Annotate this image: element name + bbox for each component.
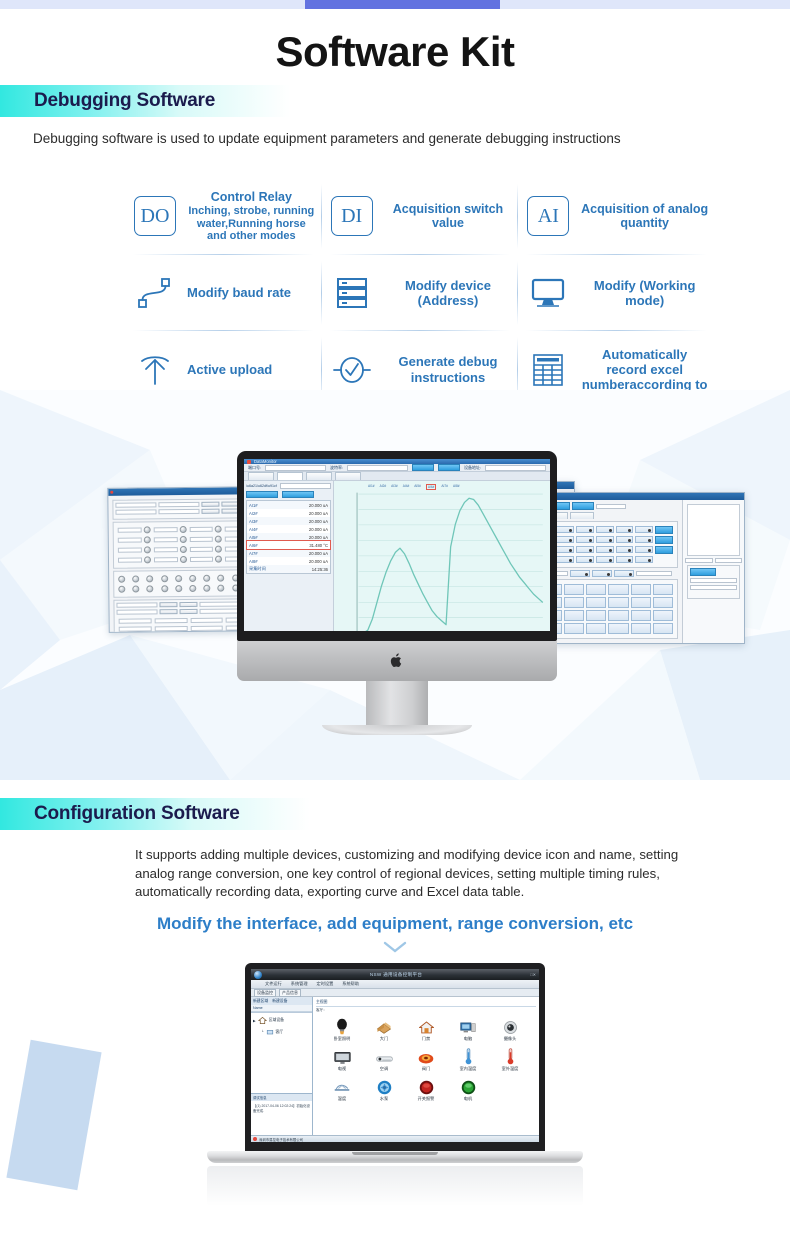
imac-chin: [237, 641, 557, 681]
device-label: 阀门: [422, 1066, 430, 1072]
menu-item-file[interactable]: 文件运行: [265, 981, 282, 987]
log-header: 调试信息: [251, 1094, 312, 1101]
laptop-trackpad-notch: [352, 1152, 438, 1155]
device-tree-sidebar[interactable]: 新建区域 新建设备 Name ▶ 区域设备: [251, 997, 313, 1135]
feature-acquisition-analog[interactable]: AI Acquisition of analog quantity: [518, 178, 715, 255]
tab-timer-output[interactable]: [248, 472, 274, 480]
table-row: AI4#20.000 uA: [247, 525, 330, 533]
laptop-base: [207, 1151, 583, 1163]
house-node-icon: [258, 1016, 267, 1025]
device-item-access[interactable]: 门禁: [406, 1018, 446, 1042]
start-acquisition-button[interactable]: [246, 491, 278, 498]
laptop-bezel: NSW 通用设备控制平台 □✕ 文件运行 系统管理 定时设置 系统帮助 设备监控…: [245, 963, 545, 1151]
baud-rate-curve-icon: [131, 276, 179, 310]
app-tabs[interactable]: [244, 472, 550, 481]
alarm-red-icon: [419, 1078, 434, 1095]
refresh-data-button[interactable]: [282, 491, 314, 498]
page-title: Software Kit: [0, 28, 790, 76]
device-label: 大门: [380, 1036, 388, 1042]
check-circle-icon: [328, 353, 376, 387]
house-icon: [419, 1018, 434, 1035]
log-line: 【(1) 2017-04-06 12:02:24】初始化设备完成.: [253, 1103, 310, 1113]
window-controls[interactable]: □✕: [530, 972, 536, 977]
tab-product-info[interactable]: 产品信息: [279, 989, 301, 997]
feature-title: Modify (Working mode): [580, 278, 709, 309]
imac-screen: DataMonitor 端口号: 波特率: 设备地址:: [244, 459, 550, 631]
canvas-header: 主视图: [316, 1000, 536, 1007]
feature-title: Acquisition of analog quantity: [580, 202, 709, 232]
section-header-configuration-label: Configuration Software: [0, 803, 240, 825]
feature-title: Acquisition switch value: [384, 202, 513, 232]
tv-icon: [334, 1048, 351, 1065]
tree-column-header: Name: [251, 1005, 312, 1012]
legend-item: AI4#: [403, 484, 410, 490]
top-scrollbar-thumb[interactable]: [305, 0, 500, 9]
device-item-outdoor-temp[interactable]: 室外温度: [490, 1048, 530, 1072]
laptop-reflection: [207, 1166, 583, 1206]
feature-title: Modify device (Address): [384, 278, 513, 309]
feature-detail: Inching, strobe, running water,Running h…: [187, 205, 316, 242]
chevron-down-icon: [0, 936, 790, 958]
device-label: 室外温度: [502, 1066, 519, 1072]
feature-title: Automatically record excel numberaccordi…: [580, 347, 709, 393]
device-item-computer[interactable]: 电脑: [448, 1018, 488, 1042]
device-label: 电视: [338, 1066, 346, 1072]
open-port-button[interactable]: [412, 464, 434, 471]
configuration-highlight: Modify the interface, add equipment, ran…: [0, 914, 790, 934]
valve-icon: [418, 1048, 434, 1065]
app-tabs[interactable]: 设备监控 产品信息: [251, 989, 539, 997]
legend-item: AI1#: [368, 484, 375, 490]
do-label-icon: DO: [131, 196, 179, 236]
new-device-button[interactable]: 新建设备: [272, 999, 287, 1004]
debug-log-panel: 调试信息 【(1) 2017-04-06 12:02:24】初始化设备完成.: [251, 1093, 312, 1135]
section-header-debugging: Debugging Software: [0, 85, 290, 117]
pump-icon: [377, 1078, 392, 1095]
tab-switch-output[interactable]: [306, 472, 332, 480]
menu-item-help[interactable]: 系统帮助: [342, 981, 359, 987]
camera-icon: [503, 1018, 518, 1035]
datamonitor-app[interactable]: DataMonitor 端口号: 波特率: 设备地址:: [244, 459, 550, 631]
device-item-pump[interactable]: 水泵: [364, 1078, 404, 1102]
device-label: 水泵: [380, 1096, 388, 1102]
app-logo-icon: [254, 971, 262, 979]
feature-title: Active upload: [187, 362, 272, 377]
computer-icon: [460, 1018, 476, 1035]
app-window-title: NSW 通用设备控制平台: [262, 972, 530, 978]
bulb-icon: [335, 1018, 349, 1035]
status-icon: [253, 1137, 257, 1141]
tree-nodes[interactable]: ▶ 区域设备 └ 客厅: [251, 1012, 312, 1093]
status-company: 深圳市易控电子技术有限公司: [259, 1137, 303, 1142]
port-label: 端口号:: [248, 465, 261, 471]
menu-item-timer[interactable]: 定时设置: [317, 981, 334, 987]
imac-mockup: DataMonitor 端口号: 波特率: 设备地址:: [237, 451, 557, 735]
table-row-highlighted: AI6#31.480 °C: [247, 541, 330, 549]
port-select[interactable]: [265, 465, 326, 471]
tree-node-label[interactable]: 区域设备: [269, 1018, 284, 1023]
gate-icon: [376, 1018, 392, 1035]
app-icon: [247, 460, 251, 464]
app-icon: [110, 491, 113, 494]
tree-node-label[interactable]: 客厅: [276, 1030, 284, 1035]
configuration-description: It supports adding multiple devices, cus…: [135, 846, 715, 902]
command-panel: [687, 565, 740, 599]
feature-modify-baud-rate[interactable]: Modify baud rate: [125, 255, 322, 332]
legend-item: AI5#: [414, 484, 421, 490]
imac-stand-neck: [366, 681, 428, 725]
table-row: AI1#20.000 uA: [247, 501, 330, 509]
thermometer-blue-icon: [464, 1048, 473, 1065]
section-header-configuration: Configuration Software: [0, 798, 310, 830]
monitor-icon: [524, 277, 572, 309]
device-item-motor[interactable]: 电机: [448, 1078, 488, 1102]
chart-legend: AI1# AI2# AI3# AI4# AI5# AI6# AI7# AI8#: [368, 484, 488, 490]
table-row: AI2#20.000 uA: [247, 509, 330, 517]
device-label: 室内温度: [460, 1066, 477, 1072]
device-label: 空调: [380, 1066, 388, 1072]
ai-label-icon: AI: [524, 196, 572, 236]
close-port-button[interactable]: [438, 464, 460, 471]
top-scrollbar-track[interactable]: [0, 0, 790, 9]
imac-bezel: DataMonitor 端口号: 波特率: 设备地址:: [237, 451, 557, 641]
motor-green-icon: [461, 1078, 476, 1095]
device-label: 湿度: [338, 1096, 346, 1102]
baud-label: 波特率:: [330, 465, 343, 471]
feature-modify-device-address[interactable]: Modify device (Address): [322, 255, 519, 332]
device-item-valve[interactable]: 阀门: [406, 1048, 446, 1072]
decorative-blue-tile: [6, 1040, 101, 1190]
right-info-panel: [682, 500, 744, 644]
legend-item: AI7#: [441, 484, 448, 490]
laptop-screen: NSW 通用设备控制平台 □✕ 文件运行 系统管理 定时设置 系统帮助 设备监控…: [251, 969, 539, 1142]
table-row: AI8#20.000 uA: [247, 557, 330, 565]
feature-grid: DO Control Relay Inching, strobe, runnin…: [125, 178, 715, 408]
table-row: AI7#20.000 uA: [247, 549, 330, 557]
imac-stand-foot: [322, 725, 472, 735]
excel-table-icon: [524, 352, 572, 388]
table-row-timestamp: 采集时间14:25:36: [247, 565, 330, 573]
device-item-camera[interactable]: 摄像头: [490, 1018, 530, 1042]
device-item-gate[interactable]: 大门: [364, 1018, 404, 1042]
table-row: AI5#20.000 uA: [247, 533, 330, 541]
device-label: 电机: [464, 1096, 472, 1102]
menu-item-system[interactable]: 系统管理: [291, 981, 308, 987]
configuration-app[interactable]: NSW 通用设备控制平台 □✕ 文件运行 系统管理 定时设置 系统帮助 设备监控…: [251, 969, 539, 1142]
apple-logo-icon: [391, 653, 404, 668]
device-item-indoor-temp[interactable]: 室内温度: [448, 1048, 488, 1072]
app-titlebar[interactable]: NSW 通用设备控制平台 □✕: [251, 969, 539, 980]
device-label: 开关报警: [418, 1096, 435, 1102]
legend-item: AI2#: [380, 484, 387, 490]
di-label-icon: DI: [328, 196, 376, 236]
baud-select[interactable]: [347, 465, 408, 471]
new-area-button[interactable]: 新建区域: [253, 999, 268, 1004]
device-label: 电脑: [464, 1036, 472, 1042]
legend-item: AI8#: [453, 484, 460, 490]
device-label: 卧室照明: [334, 1036, 351, 1042]
device-label: 门禁: [422, 1036, 430, 1042]
tab-analog-input[interactable]: [277, 472, 303, 480]
device-item-aircon[interactable]: 空调: [364, 1048, 404, 1072]
tab-device-monitor[interactable]: 设备监控: [254, 989, 276, 997]
thermometer-red-icon: [506, 1048, 515, 1065]
aircon-icon: [376, 1048, 393, 1065]
feature-title: Control Relay: [187, 190, 316, 205]
device-label: 摄像头: [504, 1036, 517, 1042]
device-item-bulb[interactable]: 卧室照明: [322, 1018, 362, 1042]
analog-values-table: AI1#20.000 uA AI2#20.000 uA AI3#20.000 u…: [246, 500, 331, 574]
table-row: AI3#20.000 uA: [247, 517, 330, 525]
humidity-icon: [334, 1078, 350, 1095]
chart-panel: AI1# AI2# AI3# AI4# AI5# AI6# AI7# AI8#: [334, 481, 550, 631]
address-label: 设备地址:: [464, 465, 481, 471]
feature-modify-working-mode[interactable]: Modify (Working mode): [518, 255, 715, 332]
app-statusbar: 深圳市易控电子技术有限公司: [251, 1135, 539, 1142]
address-input[interactable]: [485, 465, 546, 471]
feature-control-relay[interactable]: DO Control Relay Inching, strobe, runnin…: [125, 178, 322, 255]
tree-toolbar[interactable]: 新建区域 新建设备: [251, 997, 312, 1005]
device-item-humidity[interactable]: 湿度: [322, 1078, 362, 1102]
device-item-alarm[interactable]: 开关报警: [406, 1078, 446, 1102]
feature-acquisition-switch[interactable]: DI Acquisition switch value: [322, 178, 519, 255]
canvas-subheader: 客厅：: [316, 1008, 536, 1013]
app-toolbar[interactable]: 端口号: 波特率: 设备地址:: [244, 464, 550, 472]
device-node-icon: [266, 1028, 274, 1036]
legend-item: AI3#: [391, 484, 398, 490]
section-header-debugging-label: Debugging Software: [0, 90, 215, 112]
upload-arrow-icon: [131, 351, 179, 389]
device-icon-grid[interactable]: 卧室照明 大门: [316, 1016, 536, 1104]
server-rack-icon: [328, 276, 376, 310]
device-info-text: [687, 504, 740, 556]
feature-title: Modify baud rate: [187, 285, 291, 300]
tab-curve-analysis[interactable]: [335, 472, 361, 480]
debugging-subtitle: Debugging software is used to update equ…: [33, 131, 621, 146]
legend-item-selected: AI6#: [426, 484, 437, 490]
feature-title: Generate debug instructions: [384, 354, 513, 385]
analog-curve-chart: [334, 481, 550, 631]
device-canvas[interactable]: 主视图 客厅：: [313, 997, 539, 1135]
device-item-tv[interactable]: 电视: [322, 1048, 362, 1072]
laptop-mockup: NSW 通用设备控制平台 □✕ 文件运行 系统管理 定时设置 系统帮助 设备监控…: [245, 963, 545, 1206]
data-panel: \u6a21\u62df\u91cf AI1#20.000 uA: [244, 481, 334, 631]
